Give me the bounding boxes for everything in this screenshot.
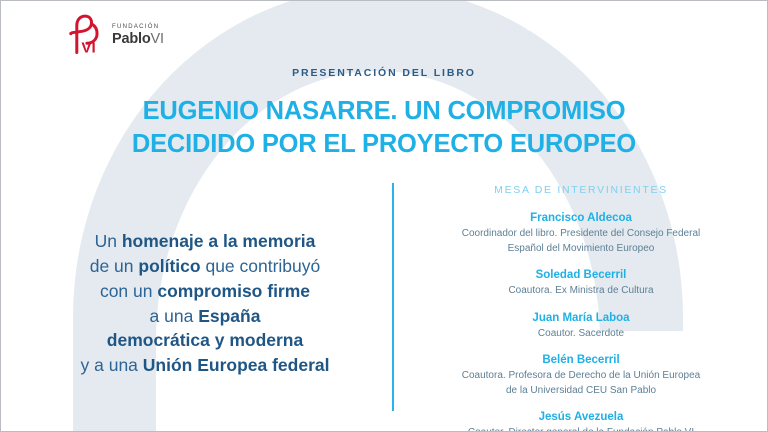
speaker-role-line: Coautor. Sacerdote (405, 327, 757, 341)
pitch-line: Un homenaje a la memoria (37, 229, 373, 254)
speaker-name: Soledad Becerril (405, 267, 757, 283)
panel-heading: MESA DE INTERVINIENTES (405, 184, 757, 196)
speaker-name: Juan María Laboa (405, 310, 757, 326)
speaker-name: Jesús Avezuela (405, 409, 757, 425)
speaker-role-line: Coautora. Profesora de Derecho de la Uni… (405, 369, 757, 383)
pitch-line: con un compromiso firme (37, 279, 373, 304)
pitch-bold: político (138, 256, 200, 276)
speaker-entry: Francisco Aldecoa Coordinador del libro.… (405, 210, 757, 255)
pitch-line: de un político que contribuyó (37, 254, 373, 279)
speaker-role-line: Coautor. Director general de la Fundació… (405, 426, 757, 432)
pitch-bold: homenaje a la memoria (122, 231, 316, 251)
speaker-name: Belén Becerril (405, 352, 757, 368)
pitch-statement: Un homenaje a la memoria de un político … (37, 229, 373, 378)
speaker-role-line: Coordinador del libro. Presidente del Co… (405, 227, 757, 241)
logo-vi-text: VI (150, 31, 163, 47)
speaker-entry: Soledad Becerril Coautora. Ex Ministra d… (405, 267, 757, 298)
pitch-plain-start: de un (90, 256, 139, 276)
eyebrow-label: PRESENTACIÓN DEL LIBRO (1, 67, 767, 79)
page-title: EUGENIO NASARRE. UN COMPROMISO DECIDIDO … (1, 95, 767, 160)
pitch-plain-start: con un (100, 281, 157, 301)
logo-pablovi-label: PabloVI (112, 32, 164, 47)
pitch-line: a una España (37, 304, 373, 329)
fpvi-monogram-icon: VI (63, 12, 109, 58)
pitch-line: y a una Unión Europea federal (37, 353, 373, 378)
pitch-plain-start: y a una (81, 355, 143, 375)
speaker-name: Francisco Aldecoa (405, 210, 757, 226)
pitch-bold: España (198, 306, 260, 326)
speaker-entry: Jesús Avezuela Coautor. Director general… (405, 409, 757, 432)
pitch-bold: Unión Europea federal (143, 355, 330, 375)
speaker-entry: Juan María Laboa Coautor. Sacerdote (405, 310, 757, 341)
fundacion-pablo-vi-logo: VI FUNDACIÓN PabloVI (63, 11, 175, 59)
title-line-2: DECIDIDO POR EL PROYECTO EUROPEO (1, 128, 767, 161)
pitch-bold: compromiso firme (157, 281, 310, 301)
poster-slide: VI FUNDACIÓN PabloVI PRESENTACIÓN DEL LI… (0, 0, 768, 432)
speaker-role-line: Coautora. Ex Ministra de Cultura (405, 284, 757, 298)
pitch-line: democrática y moderna (37, 328, 373, 353)
title-line-1: EUGENIO NASARRE. UN COMPROMISO (1, 95, 767, 128)
speakers-panel: MESA DE INTERVINIENTES Francisco Aldecoa… (405, 184, 757, 432)
speaker-entry: Belén Becerril Coautora. Profesora de De… (405, 352, 757, 397)
speaker-role-line: de la Universidad CEU San Pablo (405, 384, 757, 398)
logo-wordmark: FUNDACIÓN PabloVI (112, 24, 164, 47)
svg-text:VI: VI (81, 39, 95, 56)
vertical-divider (392, 183, 394, 411)
pitch-bold: democrática y moderna (107, 330, 303, 350)
speaker-role-line: Español del Movimiento Europeo (405, 242, 757, 256)
pitch-plain-start: a una (150, 306, 199, 326)
logo-fundacion-label: FUNDACIÓN (112, 24, 164, 30)
logo-pablo-text: Pablo (112, 31, 150, 47)
pitch-plain-end: que contribuyó (201, 256, 321, 276)
pitch-plain-start: Un (95, 231, 122, 251)
